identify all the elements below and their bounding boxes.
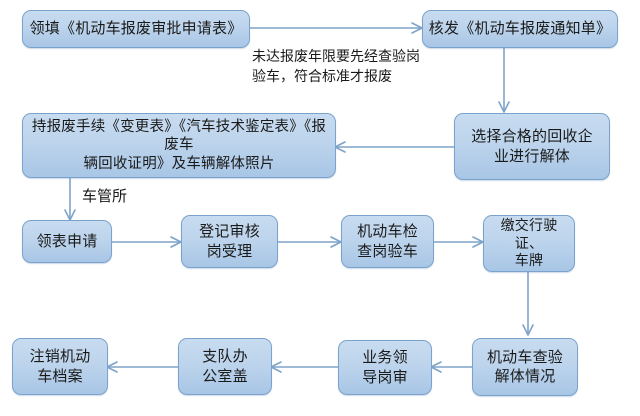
node-label-line1: 持报废手续《变更表》《汽车技术鉴定表》《报废车 [27, 118, 331, 155]
node-apply-scrap-form[interactable]: 领填《机动车报废审批申请表》 [22, 10, 250, 48]
node-issue-scrap-notice[interactable]: 核发《机动车报废通知单》 [422, 10, 618, 48]
node-label-line2: 车牌 [488, 252, 570, 270]
node-label-line2: 辆回收证明》及车辆解体照片 [27, 155, 331, 174]
edge-n2-to-n4 [499, 48, 509, 112]
node-label: 注销机动 车档案 [17, 347, 103, 385]
node-label-line2: 车档案 [17, 367, 103, 386]
node-label: 核发《机动车报废通知单》 [427, 19, 613, 38]
edge-n6-to-n7 [278, 237, 341, 247]
node-verify-dismantle-status[interactable]: 机动车查验 解体情况 [472, 338, 578, 396]
node-label: 持报废手续《变更表》《汽车技术鉴定表》《报废车 辆回收证明》及车辆解体照片 [27, 118, 331, 174]
annotation-vehicle-admin-office: 车管所 [82, 186, 127, 208]
node-label: 领填《机动车报废审批申请表》 [27, 19, 245, 38]
node-label: 领表申请 [27, 232, 107, 251]
edge-n11-to-n12 [107, 362, 178, 372]
edge-n9-to-n10 [431, 362, 472, 372]
node-label-line2: 公室盖 [183, 367, 267, 386]
node-collect-form-apply[interactable]: 领表申请 [22, 220, 112, 263]
edge-n4-to-n3 [335, 142, 454, 152]
annotation-inspection-note: 未达报废年限要先经查验岗 验车，符合标准才报废 [252, 46, 437, 87]
node-label-line1: 注销机动 [17, 347, 103, 366]
node-label: 缴交行驶证、 车牌 [488, 217, 570, 271]
node-label-line1: 登记审核 [186, 222, 273, 241]
edge-n1-to-n2 [250, 23, 422, 33]
node-label: 登记审核 岗受理 [186, 222, 273, 260]
edge-n3-to-n5 [65, 178, 75, 220]
edge-n5-to-n6 [112, 237, 181, 247]
node-hold-scrap-documents[interactable]: 持报废手续《变更表》《汽车技术鉴定表》《报废车 辆回收证明》及车辆解体照片 [22, 113, 336, 178]
node-label: 支队办 公室盖 [183, 347, 267, 385]
node-label: 选择合格的回收企 业进行解体 [459, 127, 605, 165]
node-label-line1: 机动车检 [346, 222, 429, 241]
node-label-line1: 机动车查验 [477, 348, 573, 367]
node-label-line2: 查岗验车 [346, 242, 429, 261]
edge-n10-to-n11 [271, 362, 338, 372]
node-label-line1: 选择合格的回收企 [459, 127, 605, 146]
flowchart-canvas: 领填《机动车报废审批申请表》 核发《机动车报废通知单》 未达报废年限要先经查验岗… [0, 0, 640, 416]
node-cancel-vehicle-file[interactable]: 注销机动 车档案 [12, 338, 108, 395]
node-label-line2: 导岗审 [343, 368, 427, 387]
node-label-line1: 支队办 [183, 347, 267, 366]
node-surrender-license-plate[interactable]: 缴交行驶证、 车牌 [483, 215, 575, 272]
node-label-line2: 业进行解体 [459, 147, 605, 166]
node-registration-review-desk[interactable]: 登记审核 岗受理 [181, 215, 278, 268]
node-detachment-office-seal[interactable]: 支队办 公室盖 [178, 338, 272, 395]
node-label-line2: 解体情况 [477, 367, 573, 386]
edge-n7-to-n8 [434, 237, 483, 247]
node-label: 机动车查验 解体情况 [477, 348, 573, 386]
node-label-line2: 岗受理 [186, 242, 273, 261]
node-choose-recycler[interactable]: 选择合格的回收企 业进行解体 [454, 113, 610, 180]
node-label: 业务领 导岗审 [343, 348, 427, 386]
edge-n8-to-n9 [523, 272, 533, 335]
node-label-line1: 缴交行驶证、 [488, 217, 570, 253]
node-label: 机动车检 查岗验车 [346, 222, 429, 260]
node-vehicle-inspection-desk[interactable]: 机动车检 查岗验车 [341, 215, 434, 268]
node-label-line1: 业务领 [343, 348, 427, 367]
node-business-leader-review[interactable]: 业务领 导岗审 [338, 340, 432, 395]
